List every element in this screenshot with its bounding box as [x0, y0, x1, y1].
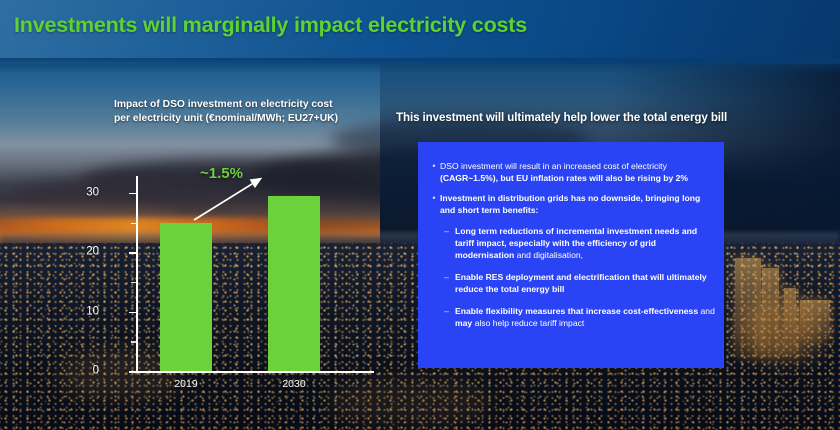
bar-category-label: 2019	[160, 378, 212, 390]
chart-title-line-2: per electricity unit (€nominal/MWh; EU27…	[114, 112, 414, 126]
bullet-marker-icon: •	[428, 193, 440, 216]
bullet-marker-icon: •	[428, 161, 440, 184]
bullet-text-segment: DSO investment will result in an increas…	[440, 161, 667, 171]
y-axis-tick-mark	[129, 312, 137, 314]
bar-category-label: 2030	[268, 378, 320, 390]
page-title: Investments will marginally impact elect…	[14, 13, 527, 38]
bullet-text-segment: and	[701, 306, 715, 316]
y-axis-minor-tick	[131, 341, 137, 343]
sub-bullet-marker-icon: –	[444, 272, 455, 295]
chart-title: Impact of DSO investment on electricity …	[114, 98, 414, 125]
bullet-text-segment: Enable RES deployment and electrificatio…	[455, 272, 707, 294]
sub-bullet-text: Long term reductions of incremental inve…	[455, 226, 716, 261]
y-axis-tick-label: 30	[86, 187, 99, 199]
text-callout-box: •DSO investment will result in an increa…	[418, 142, 724, 368]
bullet-item: •Investment in distribution grids has no…	[428, 193, 716, 216]
sub-bullet-item: –Enable RES deployment and electrificati…	[444, 272, 716, 295]
text-panel-heading: This investment will ultimately help low…	[396, 111, 727, 124]
bullet-item: •DSO investment will result in an increa…	[428, 161, 716, 184]
sub-bullet-text: Enable flexibility measures that increas…	[455, 306, 716, 329]
y-axis-tick-label: 10	[86, 306, 99, 318]
bullet-list: •DSO investment will result in an increa…	[428, 161, 716, 341]
bar	[160, 223, 212, 371]
bullet-text-segment: also help reduce tariff impact	[475, 318, 585, 328]
y-axis-tick-mark	[129, 193, 137, 195]
bullet-text-segment: (CAGR~1.5%), but EU inflation rates will…	[440, 173, 688, 183]
y-axis-line	[136, 176, 138, 373]
sub-bullet-item: –Enable flexibility measures that increa…	[444, 306, 716, 329]
sub-bullet-marker-icon: –	[444, 226, 455, 261]
y-axis-tick-mark	[129, 252, 137, 254]
x-axis-line	[136, 371, 374, 373]
sub-bullet-item: –Long term reductions of incremental inv…	[444, 226, 716, 261]
sub-bullet-list: –Long term reductions of incremental inv…	[444, 226, 716, 329]
sub-bullet-marker-icon: –	[444, 306, 455, 329]
y-axis-tick-label: 20	[86, 247, 99, 259]
bullet-text: DSO investment will result in an increas…	[440, 161, 716, 184]
sub-bullet-text: Enable RES deployment and electrificatio…	[455, 272, 716, 295]
bullet-text-segment: and digitalisation,	[517, 250, 583, 260]
y-axis-minor-tick	[131, 282, 137, 284]
slide-root: Investments will marginally impact elect…	[0, 0, 840, 430]
bullet-text-segment: Investment in distribution grids has no …	[440, 193, 700, 215]
chart-title-line-1: Impact of DSO investment on electricity …	[114, 98, 414, 112]
y-axis-tick-label: 0	[93, 365, 99, 377]
bullet-text-segment: Enable flexibility measures that increas…	[455, 306, 701, 316]
y-axis-minor-tick	[131, 223, 137, 225]
y-axis-tick-mark	[129, 371, 137, 373]
bullet-text-segment: may	[455, 318, 475, 328]
bullet-text: Investment in distribution grids has no …	[440, 193, 716, 216]
upward-trend-arrow-icon	[190, 170, 300, 225]
